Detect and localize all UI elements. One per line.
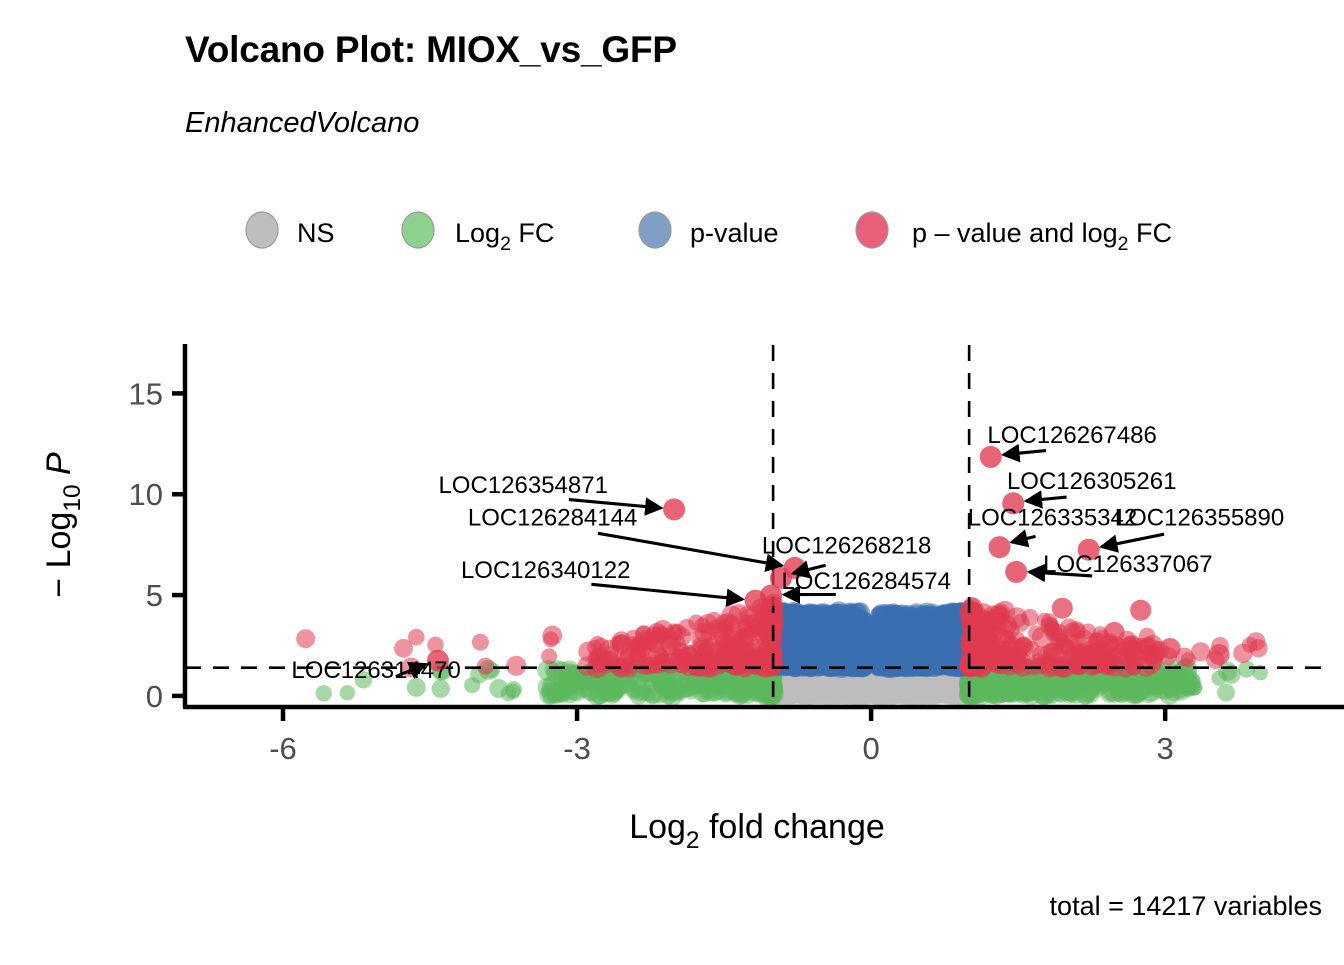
- legend: NSLog2 FCp-valuep – value and log2 FC: [246, 212, 1172, 255]
- legend-item-0[interactable]: NS: [246, 212, 335, 248]
- circle-marker: [639, 212, 671, 248]
- scatter-points-layer: [296, 594, 1268, 707]
- legend-item-2[interactable]: p-value: [639, 212, 779, 248]
- legend-item-label: Log2 FC: [455, 218, 554, 255]
- plot-title: Volcano Plot: MIOX_vs_GFP: [185, 29, 677, 70]
- figure-header: Volcano Plot: MIOX_vs_GFPEnhancedVolcano: [185, 29, 677, 139]
- plot-subtitle: EnhancedVolcano: [185, 107, 419, 139]
- circle-marker: [856, 212, 888, 248]
- legend-item-label: p-value: [690, 218, 779, 248]
- volcano-plot-svg: Volcano Plot: MIOX_vs_GFPEnhancedVolcano…: [0, 0, 1344, 960]
- circle-marker: [402, 212, 434, 248]
- volcano-plot-figure: Volcano Plot: MIOX_vs_GFPEnhancedVolcano…: [0, 0, 1344, 960]
- legend-item-3[interactable]: p – value and log2 FC: [856, 212, 1172, 255]
- legend-item-label: p – value and log2 FC: [912, 218, 1172, 255]
- circle-marker: [246, 212, 278, 248]
- legend-item-1[interactable]: Log2 FC: [402, 212, 554, 255]
- legend-item-label: NS: [297, 218, 335, 248]
